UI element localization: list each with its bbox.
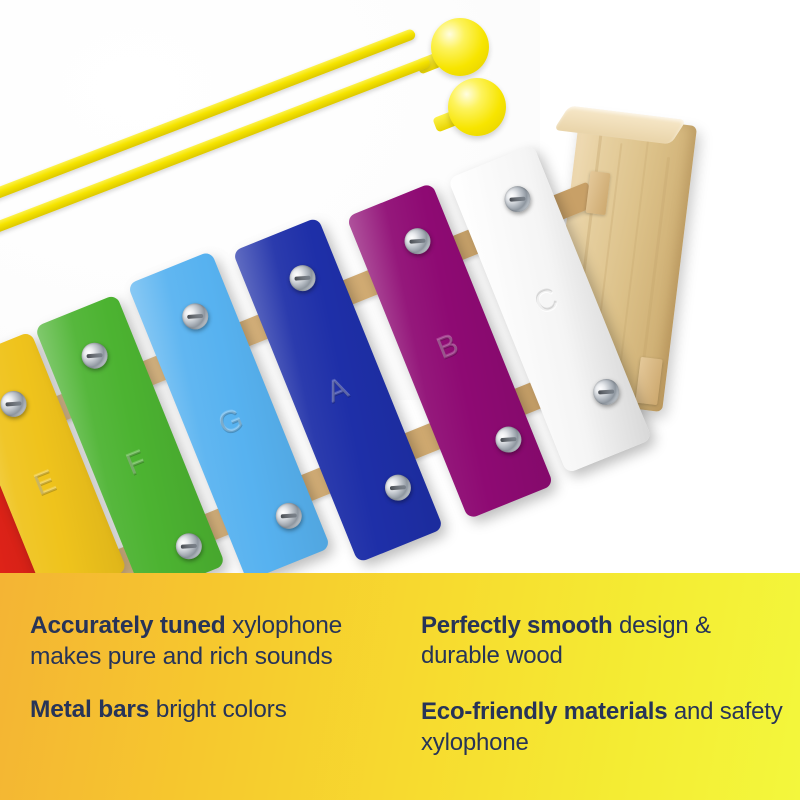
mallet-upper-stick[interactable] (0, 28, 417, 207)
feature-column-right: Perfectly smooth design & durable wood E… (405, 573, 800, 800)
bar-screw (501, 182, 535, 216)
feature-item: Metal bars bright colors (30, 695, 397, 726)
feature-column-left: Accurately tuned xylophone makes pure an… (0, 573, 405, 800)
feature-banner: Accurately tuned xylophone makes pure an… (0, 573, 800, 800)
bar-screw (0, 387, 30, 421)
product-photo: D E F G A (0, 0, 800, 575)
bar-note-letter: E (0, 452, 92, 516)
bar-screw (172, 529, 206, 563)
bar-screw (78, 339, 112, 373)
feature-bold-text: Perfectly smooth (421, 612, 613, 639)
bar-screw (381, 471, 415, 505)
feature-bold-text: Accurately tuned (30, 612, 226, 639)
feature-item: Perfectly smooth design & durable wood (421, 611, 788, 671)
feature-bold-text: Metal bars (30, 696, 149, 723)
bar-screw (286, 261, 320, 295)
mallet-lower-head[interactable] (448, 78, 506, 136)
bar-screw (589, 375, 623, 409)
bar-note-letter: F (90, 431, 184, 495)
feature-item: Accurately tuned xylophone makes pure an… (30, 611, 397, 673)
bar-screw (492, 423, 526, 457)
feature-item: Eco-friendly materials and safety xyloph… (421, 697, 788, 757)
mallet-upper-head[interactable] (431, 18, 489, 76)
feature-bold-text: Eco-friendly materials (421, 698, 667, 725)
bar-screw (401, 224, 435, 258)
bar-screw (178, 299, 212, 333)
product-feature-image: D E F G A (0, 0, 800, 800)
bar-screw (272, 499, 306, 533)
feature-rest-text: bright colors (149, 696, 286, 723)
bar-note-letter: A (289, 358, 387, 424)
bar-note-letter: G (184, 390, 280, 455)
bar-note-letter: C (498, 269, 596, 335)
bar-note-letter: B (399, 314, 497, 380)
